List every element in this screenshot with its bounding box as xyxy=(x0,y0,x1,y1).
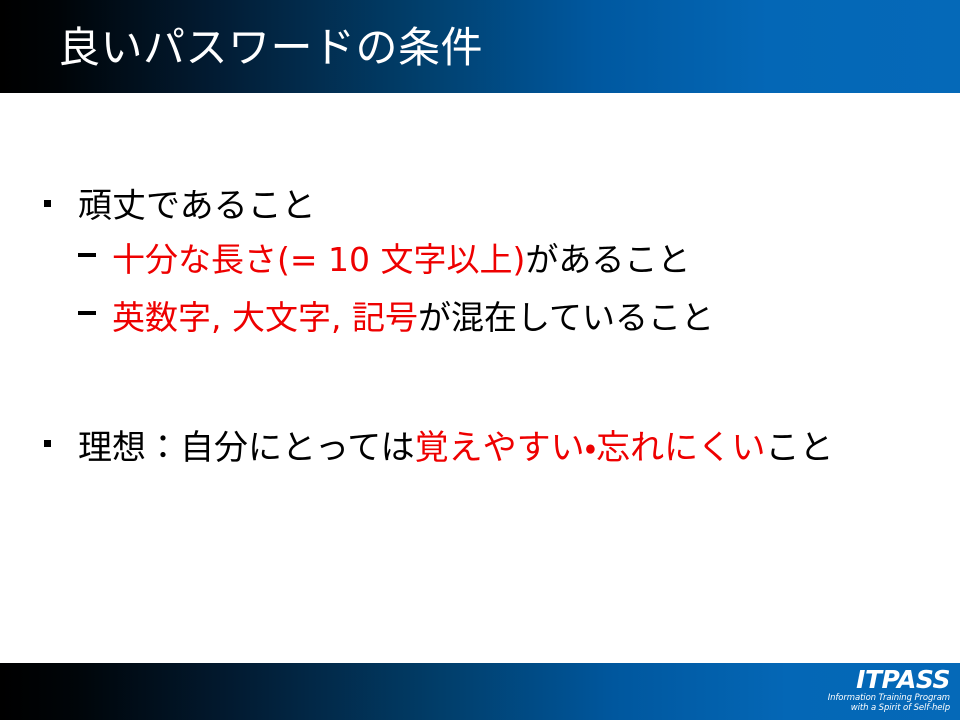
slide: 良いパスワードの条件 頑丈であること 十分な長さ(= 10 文字以上)があること… xyxy=(0,0,960,720)
bullet-text-mixed-chars: 英数字, 大文字, 記号が混在していること xyxy=(112,295,948,341)
bullet-item-sturdy: 頑丈であること xyxy=(40,183,940,229)
text-segment: 頑丈であること xyxy=(78,186,316,226)
text-segment: こと xyxy=(766,428,834,468)
footer-band: ITPASS Information Training Program with… xyxy=(0,663,960,720)
bullet-item-mixed-chars: 英数字, 大文字, 記号が混在していること xyxy=(78,295,948,341)
text-segment: 理想：自分にとっては xyxy=(78,428,415,468)
text-segment-highlight: 覚えやすい・忘れにくい xyxy=(415,428,766,468)
bullet-marker-dot xyxy=(40,423,78,469)
text-segment: が混在していること xyxy=(418,298,714,337)
header-band: 良いパスワードの条件 xyxy=(0,0,960,93)
bullet-text-length: 十分な長さ(= 10 文字以上)があること xyxy=(112,237,948,283)
text-segment: があること xyxy=(525,240,690,279)
logo-tagline-line1: Information Training Program xyxy=(810,693,950,703)
slide-body: 頑丈であること 十分な長さ(= 10 文字以上)があること 英数字, 大文字, … xyxy=(0,93,960,663)
bullet-marker-dash xyxy=(78,237,112,283)
bullet-marker-dot xyxy=(40,183,78,229)
bullet-text-sturdy: 頑丈であること xyxy=(78,183,940,229)
logo-tagline-line2: with a Spirit of Self-help xyxy=(810,703,950,713)
logo-wordmark: ITPASS xyxy=(810,667,950,693)
bullet-item-length: 十分な長さ(= 10 文字以上)があること xyxy=(78,237,948,283)
text-segment-highlight: 英数字, 大文字, 記号 xyxy=(112,298,418,337)
bullet-item-ideal: 理想：自分にとっては覚えやすい・忘れにくいこと xyxy=(40,423,940,473)
text-segment-highlight: 十分な長さ(= 10 文字以上) xyxy=(112,240,525,279)
page-title: 良いパスワードの条件 xyxy=(58,20,483,76)
bullet-text-ideal: 理想：自分にとっては覚えやすい・忘れにくいこと xyxy=(78,423,940,473)
itpass-logo: ITPASS Information Training Program with… xyxy=(810,667,950,713)
bullet-marker-dash xyxy=(78,295,112,341)
